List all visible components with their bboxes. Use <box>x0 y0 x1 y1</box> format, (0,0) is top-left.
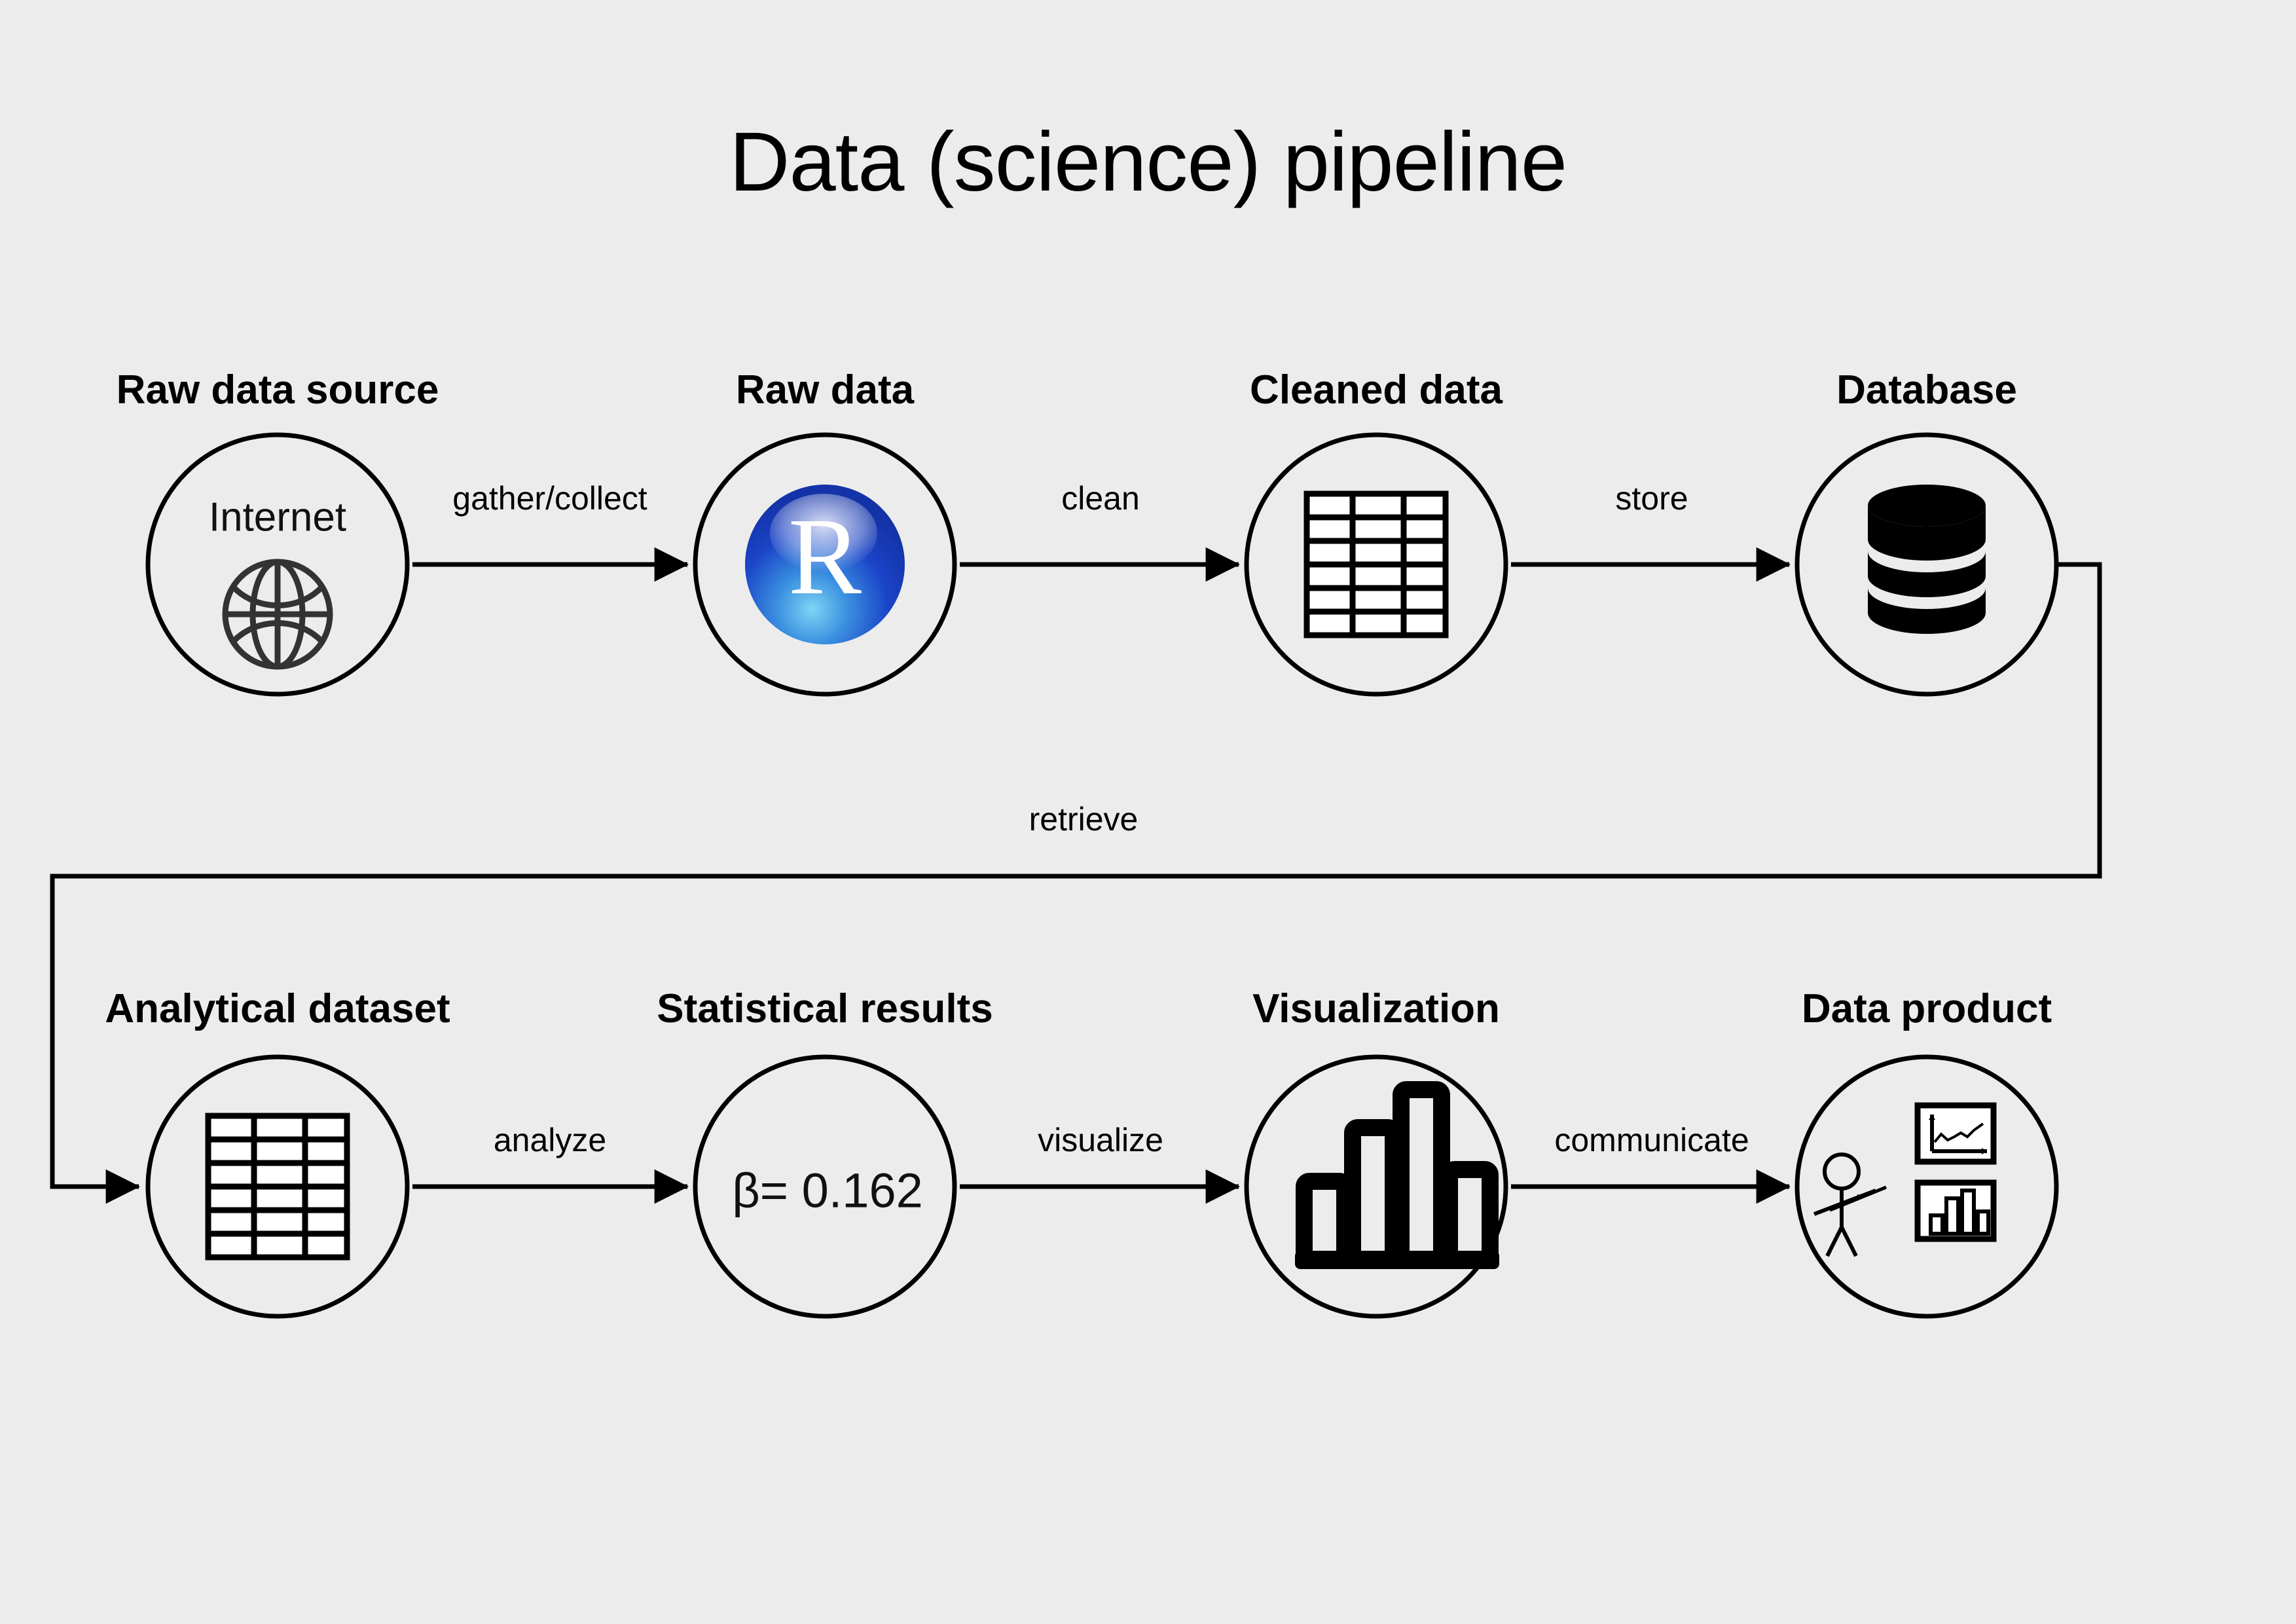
node-label-statistical-results: Statistical results <box>657 986 993 1032</box>
node-label-analytical-dataset: Analytical dataset <box>105 986 450 1032</box>
pipeline-diagram-canvas: R <box>0 0 2296 1624</box>
node-label-visualization: Visualization <box>1252 986 1500 1032</box>
bar-chart-icon <box>1295 1090 1499 1269</box>
node-circle-visualization[interactable] <box>1247 1057 1506 1316</box>
r-logo-icon: R <box>745 485 905 644</box>
edge-label-store: store <box>1615 479 1688 517</box>
presenter-dashboard-icon <box>1814 1105 1994 1256</box>
table-icon <box>1307 494 1446 635</box>
node-label-cleaned-data: Cleaned data <box>1250 367 1503 413</box>
edge-label-gather-collect: gather/collect <box>452 479 647 517</box>
globe-icon <box>225 562 330 667</box>
line-chart-panel-icon <box>1918 1105 1994 1162</box>
node-text-beta-value: β= 0.162 <box>732 1163 923 1219</box>
page-title: Data (science) pipeline <box>0 117 2296 209</box>
stick-figure-icon <box>1814 1154 1886 1256</box>
node-label-raw-data: Raw data <box>736 367 914 413</box>
node-label-data-product: Data product <box>1802 986 2052 1032</box>
node-circle-database[interactable] <box>1797 435 2056 694</box>
edge-retrieve <box>52 564 2100 1187</box>
edge-label-analyze: analyze <box>494 1121 606 1159</box>
node-label-raw-data-source: Raw data source <box>117 367 439 413</box>
database-cylinder-icon <box>1868 485 1986 634</box>
node-label-database: Database <box>1836 367 2017 413</box>
table-icon <box>208 1116 347 1257</box>
edge-label-communicate: communicate <box>1554 1121 1749 1159</box>
edge-label-clean: clean <box>1061 479 1140 517</box>
svg-text:R: R <box>788 496 862 618</box>
edge-label-visualize: visualize <box>1038 1121 1163 1159</box>
edge-label-retrieve: retrieve <box>1029 800 1139 838</box>
bar-chart-panel-icon <box>1918 1183 1994 1239</box>
node-text-internet: Internet <box>209 494 346 541</box>
